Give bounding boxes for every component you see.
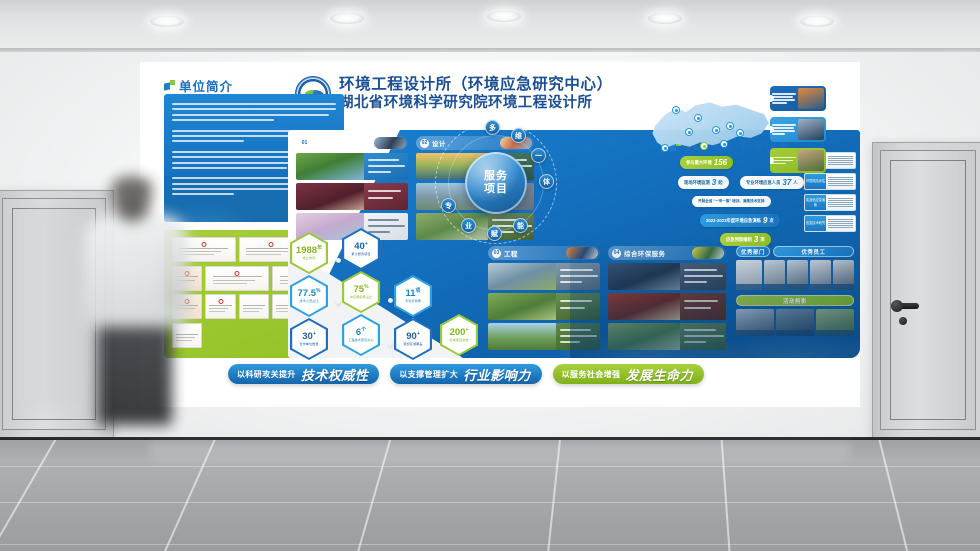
pill-suffix: 项 bbox=[760, 237, 764, 243]
slogan-row: 以科研攻关提升 技术权威性 以支撑管理扩大 行业影响力 以服务社会增强 发展生命… bbox=[228, 362, 848, 386]
certificate-item bbox=[205, 266, 269, 291]
map-marker[interactable] bbox=[694, 114, 702, 122]
card-caption bbox=[556, 323, 600, 350]
card-photo bbox=[488, 323, 556, 350]
photo-card[interactable] bbox=[296, 183, 408, 210]
photo-card[interactable] bbox=[488, 263, 600, 290]
staff-photo[interactable] bbox=[764, 260, 785, 290]
emergency-stat-pill[interactable]: 专业环境应急人员 37 人 bbox=[740, 176, 804, 189]
photo-card[interactable] bbox=[296, 153, 408, 180]
card-caption bbox=[556, 293, 600, 320]
card-caption bbox=[680, 293, 726, 320]
orbit-node[interactable]: 赋 bbox=[487, 226, 502, 241]
statistics-hexagons: 1988年成立时间 40+累计服务项目 77.5%技术人员占比 75%中高级职称… bbox=[290, 232, 465, 358]
certificate-item bbox=[172, 266, 202, 291]
section-04-title: 04 综合环保服务 bbox=[608, 246, 726, 260]
staff-showcase: 优秀部门 优秀员工 活动剪影 bbox=[736, 246, 854, 336]
photo-card[interactable] bbox=[488, 323, 600, 350]
emergency-infobox[interactable]: 环境风险评估 bbox=[804, 173, 856, 190]
downlight bbox=[150, 16, 184, 27]
board-header: HAEES 环境工程设计所（环境应急研究中心） 湖北省环境科学研究院环境工程设计… bbox=[295, 70, 695, 118]
map-marker[interactable] bbox=[736, 129, 744, 137]
stat-hexagon[interactable]: 40+累计服务项目 bbox=[342, 228, 380, 270]
orbit-node[interactable]: 维 bbox=[511, 128, 526, 143]
card-caption bbox=[364, 153, 408, 180]
stat-hexagon[interactable]: 1988年成立时间 bbox=[290, 232, 328, 274]
section-01-consulting[interactable]: 01 咨询 bbox=[296, 136, 408, 240]
map-marker[interactable] bbox=[720, 140, 728, 148]
downlight bbox=[487, 11, 521, 22]
intro-heading: 单位简介 bbox=[164, 76, 233, 95]
activity-tag: 活动剪影 bbox=[736, 295, 854, 306]
door-right[interactable] bbox=[872, 142, 980, 438]
section-thumbnail bbox=[566, 247, 598, 259]
slogan-lead: 以科研攻关提升 bbox=[237, 369, 296, 380]
card-caption bbox=[680, 263, 726, 290]
stat-hexagon[interactable]: 科研平台 6个工程技术研究中心 bbox=[342, 314, 380, 356]
infobox-label: 应急技术研究 bbox=[805, 216, 826, 231]
pill-suffix: 次 bbox=[769, 218, 773, 224]
staff-photo[interactable] bbox=[833, 260, 854, 290]
pill-prefix: 应急预案编制 bbox=[726, 237, 752, 243]
section-thumbnail bbox=[692, 247, 724, 259]
pill-value: 3 bbox=[754, 235, 758, 244]
infobox-lines bbox=[826, 195, 855, 210]
section-number-badge: 01 bbox=[300, 139, 309, 148]
orbit-node[interactable]: 多 bbox=[485, 120, 500, 135]
card-photo bbox=[608, 293, 680, 320]
emergency-stat-pill[interactable]: 开展全省 "一市一策" 培训、演练技术支持 bbox=[692, 196, 771, 207]
photo-caption bbox=[787, 284, 808, 290]
slogan-1[interactable]: 以科研攻关提升 技术权威性 bbox=[228, 364, 379, 384]
culture-wall-board: HAEES 环境工程设计所（环境应急研究中心） 湖北省环境科学研究院环境工程设计… bbox=[140, 62, 860, 407]
dept-group-photo[interactable] bbox=[736, 260, 762, 290]
pill-prefix: 现场环境监测 bbox=[684, 180, 710, 186]
infobox-label: 环境风险评估 bbox=[805, 174, 826, 189]
card-photo bbox=[798, 150, 824, 171]
photo-caption bbox=[764, 284, 785, 290]
stat-hexagon[interactable]: 77.5%技术人员占比 bbox=[290, 275, 328, 317]
section-label: 咨询 bbox=[312, 138, 326, 148]
hub-title-line-2: 项目 bbox=[484, 183, 508, 196]
orbit-node[interactable]: 专 bbox=[441, 198, 456, 213]
card-caption bbox=[364, 183, 408, 210]
section-number-badge: 03 bbox=[492, 249, 501, 258]
pill-value: 3 bbox=[712, 178, 716, 187]
section-03-title: 03 工程 bbox=[488, 246, 600, 260]
infobox-lines bbox=[826, 216, 855, 231]
card-photo bbox=[296, 183, 364, 210]
orbit-node[interactable]: 一 bbox=[531, 148, 546, 163]
certificate-item bbox=[205, 294, 235, 319]
certificate-item bbox=[172, 294, 202, 319]
pill-prefix: 2022-2023年度环境应急演练 bbox=[706, 218, 761, 224]
pill-value: 9 bbox=[763, 216, 767, 225]
card-photo bbox=[608, 323, 680, 350]
stat-hexagon[interactable]: 获奖 90+服务区域覆盖 bbox=[394, 318, 432, 360]
photo-caption bbox=[776, 330, 814, 336]
door-lock-icon[interactable] bbox=[899, 317, 907, 325]
downlight bbox=[330, 13, 364, 24]
section-01-title: 01 咨询 bbox=[296, 136, 408, 150]
stat-hexagon[interactable]: 11项专利及软著 bbox=[394, 275, 432, 317]
orbit-node[interactable]: 业 bbox=[461, 218, 476, 233]
slogan-2[interactable]: 以支撑管理扩大 行业影响力 bbox=[390, 364, 541, 384]
staff-tag: 优秀员工 bbox=[773, 246, 854, 257]
card-caption bbox=[556, 263, 600, 290]
downlight bbox=[800, 16, 834, 27]
staff-photo[interactable] bbox=[787, 260, 808, 290]
slogan-lead: 以服务社会增强 bbox=[562, 369, 621, 380]
slogan-main: 发展生命力 bbox=[625, 365, 693, 384]
staff-photo[interactable] bbox=[810, 260, 831, 290]
office-corridor-scene: HAEES 环境工程设计所（环境应急研究中心） 湖北省环境科学研究院环境工程设计… bbox=[0, 0, 980, 551]
pill-prefix: 开展全省 "一市一策" 培训、演练技术支持 bbox=[698, 199, 765, 204]
ceiling bbox=[0, 0, 980, 52]
emergency-stat-pill[interactable]: 2022-2023年度环境应急演练 9 次 bbox=[700, 214, 780, 227]
photo-card[interactable] bbox=[608, 323, 726, 350]
right-info-card-1[interactable] bbox=[770, 86, 826, 111]
map-marker[interactable] bbox=[661, 144, 669, 152]
section-label: 综合环保服务 bbox=[624, 248, 665, 258]
header-text: 环境工程设计所（环境应急研究中心） 湖北省环境科学研究院环境工程设计所 bbox=[339, 76, 613, 113]
map-shape bbox=[650, 92, 770, 166]
emergency-stat-pill[interactable]: 现场环境监测 3 起 bbox=[678, 176, 729, 189]
header-line-2: 湖北省环境科学研究院环境工程设计所 bbox=[339, 95, 613, 113]
card-text-lines bbox=[772, 119, 796, 140]
slogan-main: 行业影响力 bbox=[463, 365, 531, 384]
hubei-province-map[interactable] bbox=[650, 92, 770, 166]
emergency-infobox[interactable]: 应急技术研究 bbox=[804, 215, 856, 232]
photo-caption bbox=[736, 330, 774, 336]
map-marker[interactable] bbox=[672, 106, 680, 114]
orbit-node[interactable]: 体 bbox=[539, 174, 554, 189]
card-text-lines bbox=[772, 88, 796, 109]
photo-card[interactable] bbox=[608, 263, 726, 290]
photo-caption bbox=[810, 284, 831, 290]
certificate-item bbox=[172, 237, 236, 262]
stat-hexagon[interactable]: 75%中高级职称占比 bbox=[342, 271, 380, 313]
flag-icon bbox=[164, 80, 175, 91]
connector-dot bbox=[388, 298, 393, 303]
section-label: 工程 bbox=[504, 248, 518, 258]
activity-photo[interactable] bbox=[816, 309, 854, 336]
door-left[interactable] bbox=[0, 190, 114, 438]
map-marker[interactable] bbox=[685, 128, 693, 136]
stat-hexagon[interactable]: 30+合作单位数量 bbox=[290, 318, 328, 360]
door-inset bbox=[890, 160, 966, 420]
map-marker[interactable] bbox=[712, 126, 720, 134]
section-number-badge: 04 bbox=[612, 249, 621, 258]
card-photo bbox=[608, 263, 680, 290]
door-panel bbox=[2, 198, 106, 430]
pill-value: 37 bbox=[782, 178, 791, 187]
downlight bbox=[648, 13, 682, 24]
right-info-card-3[interactable] bbox=[770, 148, 826, 173]
section-03-engineering[interactable]: 03 工程 bbox=[488, 246, 600, 350]
certificate-item bbox=[239, 294, 269, 319]
photo-card[interactable] bbox=[608, 293, 726, 320]
door-handle[interactable] bbox=[895, 303, 919, 309]
activity-photo[interactable] bbox=[776, 309, 814, 336]
card-photo bbox=[798, 119, 824, 140]
card-text-lines bbox=[772, 150, 796, 171]
section-number-badge: 02 bbox=[420, 139, 429, 148]
certificate-item bbox=[172, 323, 202, 348]
card-caption bbox=[680, 323, 726, 350]
emergency-infobox[interactable]: 实战化应急演练 bbox=[804, 194, 856, 211]
photo-caption bbox=[833, 284, 854, 290]
dept-tag: 优秀部门 bbox=[736, 246, 770, 257]
card-photo bbox=[296, 153, 364, 180]
connector-dot bbox=[388, 342, 393, 347]
photo-caption bbox=[816, 330, 854, 336]
pill-suffix: 起 bbox=[718, 180, 722, 186]
infobox-lines bbox=[826, 153, 855, 168]
infobox-lines bbox=[826, 174, 855, 189]
photo-caption bbox=[736, 284, 762, 290]
service-hub: 多 维 一 体 专 业 赋 能 服务 项目 bbox=[435, 122, 557, 244]
header-line-1: 环境工程设计所（环境应急研究中心） bbox=[339, 76, 613, 95]
section-thumbnail bbox=[374, 137, 406, 149]
card-photo bbox=[488, 293, 556, 320]
connector-dot bbox=[336, 300, 341, 305]
slogan-lead: 以支撑管理扩大 bbox=[399, 369, 458, 380]
background-landscape bbox=[560, 270, 860, 358]
door-inset bbox=[12, 208, 96, 420]
photo-card[interactable] bbox=[488, 293, 600, 320]
map-marker[interactable] bbox=[726, 122, 734, 130]
slogan-main: 技术权威性 bbox=[301, 365, 369, 384]
slogan-3[interactable]: 以服务社会增强 发展生命力 bbox=[553, 364, 704, 384]
right-info-card-2[interactable] bbox=[770, 117, 826, 142]
activity-photo[interactable] bbox=[736, 309, 774, 336]
connector-dot bbox=[336, 258, 341, 263]
floor-reflection bbox=[150, 443, 850, 469]
pill-prefix: 专业环境应急人员 bbox=[746, 180, 780, 186]
map-marker[interactable] bbox=[700, 142, 708, 150]
emergency-stat-pill[interactable]: 应急预案编制 3 项 bbox=[720, 233, 771, 246]
intro-heading-label: 单位简介 bbox=[179, 76, 233, 95]
pill-suffix: 人 bbox=[793, 180, 797, 186]
door-panel bbox=[880, 150, 976, 430]
hub-center[interactable]: 服务 项目 bbox=[465, 152, 527, 214]
hub-title-line-1: 服务 bbox=[484, 170, 508, 183]
orbit-node[interactable]: 能 bbox=[513, 218, 528, 233]
card-photo bbox=[488, 263, 556, 290]
infobox-label: 实战化应急演练 bbox=[805, 195, 826, 210]
section-04-environment-services[interactable]: 04 综合环保服务 bbox=[608, 246, 726, 350]
card-photo bbox=[798, 88, 824, 109]
